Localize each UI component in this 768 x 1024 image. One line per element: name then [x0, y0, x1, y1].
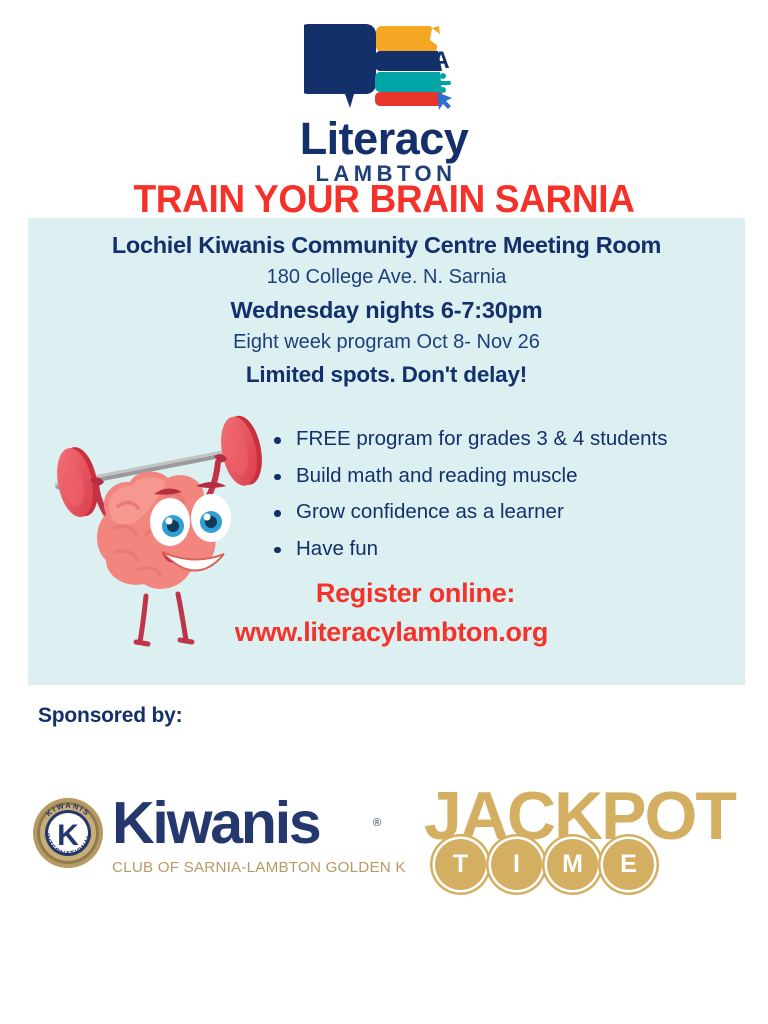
kiwanis-seal-icon: K KIWANIS INTERNATIONAL — [32, 797, 104, 869]
logo-wordmark: Literacy LAMBTON — [0, 116, 768, 185]
sponsored-by-label: Sponsored by: — [38, 704, 182, 728]
event-details: Lochiel Kiwanis Community Centre Meeting… — [28, 230, 745, 392]
weightlifting-brain-mascot-icon — [18, 410, 290, 650]
registered-trademark-icon: ® — [373, 817, 381, 829]
logo-wordmark-line1: Literacy — [0, 116, 768, 161]
lottery-ball-icon: T — [435, 839, 486, 890]
list-item: Build math and reading muscle — [270, 458, 667, 495]
event-urgency: Limited spots. Don't delay! — [28, 358, 745, 392]
info-panel: Lochiel Kiwanis Community Centre Meeting… — [28, 218, 745, 685]
list-item: Have fun — [270, 531, 667, 568]
svg-text:K: K — [57, 819, 79, 852]
kiwanis-wordmark: Kiwanis — [112, 793, 320, 853]
event-time: Wednesday nights 6-7:30pm — [28, 293, 745, 327]
kiwanis-tagline: CLUB OF SARNIA-LAMBTON GOLDEN K — [112, 859, 406, 876]
jackpot-time-logo: JACKPOT T I M E — [424, 782, 734, 890]
event-duration: Eight week program Oct 8- Nov 26 — [28, 327, 745, 358]
brand-logo: A Literacy LAMBTON — [0, 18, 768, 173]
event-address: 180 College Ave. N. Sarnia — [28, 262, 745, 293]
jackpot-time-balls: T I M E — [435, 839, 654, 890]
benefit-list: FREE program for grades 3 & 4 students B… — [270, 421, 667, 567]
list-item: FREE program for grades 3 & 4 students — [270, 421, 667, 458]
event-venue: Lochiel Kiwanis Community Centre Meeting… — [28, 230, 745, 262]
lottery-ball-icon: M — [547, 839, 598, 890]
lottery-ball-icon: I — [491, 839, 542, 890]
lottery-ball-icon: E — [603, 839, 654, 890]
list-item: Grow confidence as a learner — [270, 494, 667, 531]
svg-text:A: A — [432, 47, 449, 74]
literacy-lambton-books-logo-icon: A — [304, 18, 464, 110]
kiwanis-logo: K KIWANIS INTERNATIONAL Kiwanis ® CLUB O… — [28, 793, 398, 885]
page-title: TRAIN YOUR BRAIN SARNIA — [19, 178, 749, 222]
